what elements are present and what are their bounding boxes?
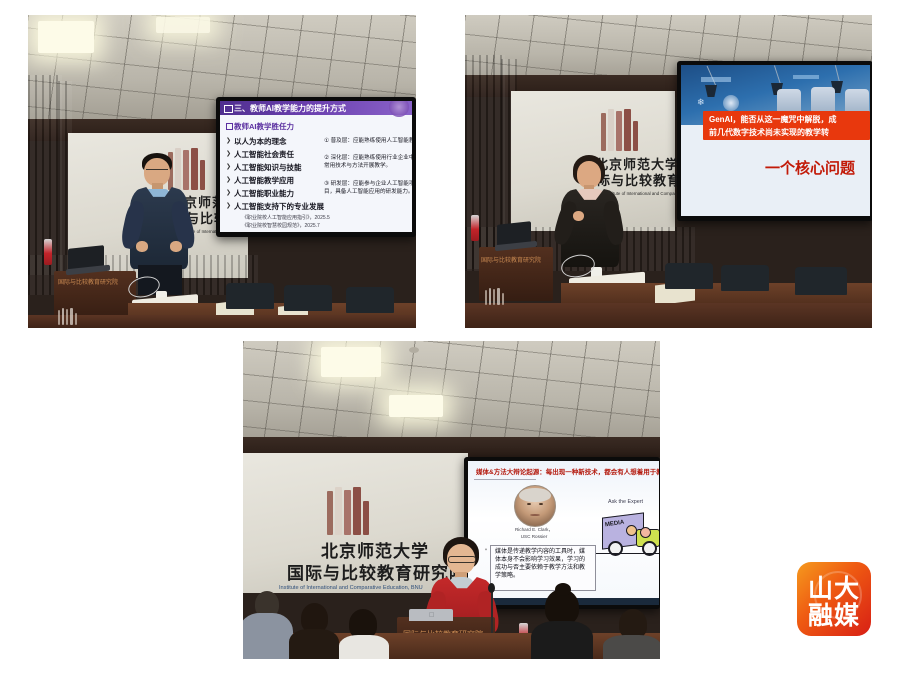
ceiling-light	[321, 347, 381, 377]
title-underline	[474, 479, 536, 480]
iice-logo-cn-line1: 北京师范大学	[321, 541, 429, 562]
chair-back	[284, 285, 332, 311]
ceiling-light	[156, 17, 210, 33]
podium-label: 国际与比较教育研究院	[58, 277, 118, 286]
audience-member	[603, 609, 660, 659]
portrait-eye	[527, 503, 531, 505]
smoke-detector-icon	[409, 347, 419, 353]
iice-bar	[485, 290, 487, 305]
iice-bar	[497, 288, 500, 305]
audience-member	[339, 609, 389, 659]
slide-banner-line2: 前几代数字技术尚未实现的教学转	[709, 127, 829, 138]
ceiling-light	[38, 21, 94, 53]
watermark-logo: 山大 融媒	[797, 562, 871, 636]
iice-bar	[75, 313, 77, 325]
speaker-glasses	[146, 169, 168, 174]
audience-hair-bun	[555, 583, 571, 596]
truck-passenger	[626, 525, 637, 536]
slide-headline: 一个核心问题	[765, 157, 855, 178]
chevron-icon: ❯	[226, 176, 231, 183]
display-screen: ❄ GenAI，能否从这一魔咒中解脱，成 前几代数字技术尚未实现的教学转 一个核…	[677, 61, 872, 221]
chair-back	[665, 263, 713, 289]
audience-body	[339, 635, 389, 659]
slide-left-bullet: 人工智能知识与技能	[234, 162, 302, 173]
slide-left-bullet: 人工智能职业能力	[234, 188, 294, 199]
slide-right-item: ② 深化层：应能熟练使用行业企业中常用技术与方法开展教学。	[324, 154, 412, 171]
lamp-arm	[835, 65, 840, 83]
microphone-icon	[488, 583, 495, 593]
slide-left-bullet: 人工智能支持下的专业发展	[234, 201, 324, 212]
brain-icon	[723, 95, 739, 111]
iice-bar	[616, 111, 622, 151]
iice-bar	[344, 490, 351, 535]
iice-bar	[335, 487, 342, 535]
speaker-hand-left	[136, 241, 148, 252]
chair-back	[226, 283, 274, 309]
slide-title: 媒体&方法大辩论起源：每出现一种新技术，都会有人想着用于教育	[476, 466, 659, 476]
table-front	[28, 315, 416, 328]
audience-member	[531, 589, 593, 659]
iice-bar	[608, 109, 614, 151]
hud-label	[701, 77, 731, 82]
iice-logo-mark	[601, 109, 638, 151]
slide-citation: 《职业院校人工智能应用指引》，2025.5	[242, 214, 330, 221]
chevron-icon: ❯	[226, 163, 231, 170]
slide-citation: 《职业院校智慧校园规范》，2025.7	[242, 222, 320, 229]
iice-bar	[353, 487, 361, 535]
slide-right-item: ① 普及层：应能熟练使用人工智能教学工具	[324, 136, 412, 144]
iice-logo-en: Institute of International and Comparati…	[279, 585, 423, 591]
slide-header-title: 三、教师AI教学能力的提升方式	[234, 103, 346, 114]
iice-bar	[633, 121, 638, 151]
audience-member	[289, 603, 339, 659]
chevron-icon: ❯	[226, 137, 231, 144]
laptop-apple-icon: 	[429, 612, 434, 619]
photo-bottom-center: 北京师范大学 国际与比较教育研究院 Institute of Internati…	[243, 341, 660, 659]
slide-subheading: 教师AI教学胜任力	[234, 121, 294, 132]
slide-right-item: ③ 研发层：应能参与企业人工智能项目，具备人工智能应用的研发能力。	[324, 180, 412, 197]
iice-bar	[66, 309, 68, 325]
audience-body	[243, 613, 293, 659]
slide-left-bullet: 以人为本的理念	[234, 136, 287, 147]
iice-bar	[327, 491, 333, 535]
speaker-hand	[573, 211, 584, 221]
speaker-male	[116, 153, 208, 283]
media-truck-cartoon: MEDIA	[596, 513, 659, 561]
display-screen: 三、教师AI教学能力的提升方式 教师AI教学胜任力 以人为本的理念 人工智能社会…	[216, 97, 416, 237]
podium-iice-mark	[485, 287, 504, 305]
audience-body	[289, 629, 339, 659]
chair-back	[721, 265, 769, 291]
photo-top-right: 北京师范大学 国际与比较教育研究院 Institute of Internati…	[465, 15, 872, 328]
expert-affiliation: USC Rossier	[508, 534, 560, 539]
iice-bar	[624, 109, 631, 151]
chair-back	[795, 267, 847, 295]
table-front	[465, 303, 872, 328]
portrait-hair	[519, 488, 551, 502]
iice-bar	[363, 501, 369, 535]
slide-left-bullet: 人工智能社会责任	[234, 149, 294, 160]
podium-label: 国际与比较教育研究院	[481, 255, 541, 264]
speaker-head	[577, 161, 601, 188]
iice-bar	[601, 113, 606, 151]
photo-top-left: 北京师范大学 国际与比较教育研究院 Institute of Internati…	[28, 15, 416, 328]
lamp-icon	[705, 85, 717, 97]
expert-name: Richard E. Clark，	[508, 527, 560, 533]
iice-bar	[58, 310, 60, 325]
ceiling-light	[389, 395, 443, 417]
slide-surface: ❄ GenAI，能否从这一魔咒中解脱，成 前几代数字技术尚未实现的教学转 一个核…	[681, 65, 870, 216]
portrait-mouth	[530, 514, 540, 516]
truck-ground-line	[596, 553, 659, 554]
lamp-arm	[774, 65, 781, 84]
snowflake-icon: ❄	[697, 97, 705, 108]
iice-bar	[70, 308, 73, 325]
chair-back	[346, 287, 394, 313]
aside-label: Ask the Expert	[608, 499, 643, 505]
water-bottle	[44, 239, 52, 265]
audience-body	[531, 621, 593, 659]
truck-driver	[640, 527, 651, 538]
portrait-eye	[539, 503, 543, 505]
audience-member	[243, 591, 293, 659]
chevron-icon: ❯	[226, 189, 231, 196]
watermark-line2: 融媒	[797, 604, 871, 629]
chevron-icon: ❯	[226, 202, 231, 209]
iice-bar	[489, 288, 491, 305]
iice-logo-mark	[327, 487, 369, 535]
slide-left-bullet: 人工智能教学应用	[234, 175, 294, 186]
iice-bar	[502, 293, 504, 305]
podium-iice-mark	[58, 307, 77, 325]
expert-portrait	[514, 485, 556, 527]
hud-label	[793, 75, 819, 79]
quote-text: 媒体是传递教学内容的工具时，媒体本身不会影响学习效果，学习的成功与否主要依赖于教…	[495, 548, 589, 580]
speaker-hand-right	[170, 241, 182, 252]
watermark-line1: 山大	[797, 577, 871, 602]
slide-header-icon	[224, 105, 233, 113]
speaker-glasses	[448, 556, 476, 563]
chevron-icon: ❯	[226, 150, 231, 157]
lamp-arm	[707, 66, 717, 87]
slide-surface: 三、教师AI教学能力的提升方式 教师AI教学胜任力 以人为本的理念 人工智能社会…	[220, 101, 412, 232]
iice-bar	[62, 308, 64, 325]
iice-bar	[493, 289, 495, 305]
audience-body	[603, 635, 660, 659]
microphone-stand	[491, 587, 493, 635]
slide-banner-line1: GenAI，能否从这一魔咒中解脱，成	[709, 114, 837, 125]
water-bottle	[471, 215, 479, 241]
slide-subheading-bullet	[226, 123, 233, 130]
